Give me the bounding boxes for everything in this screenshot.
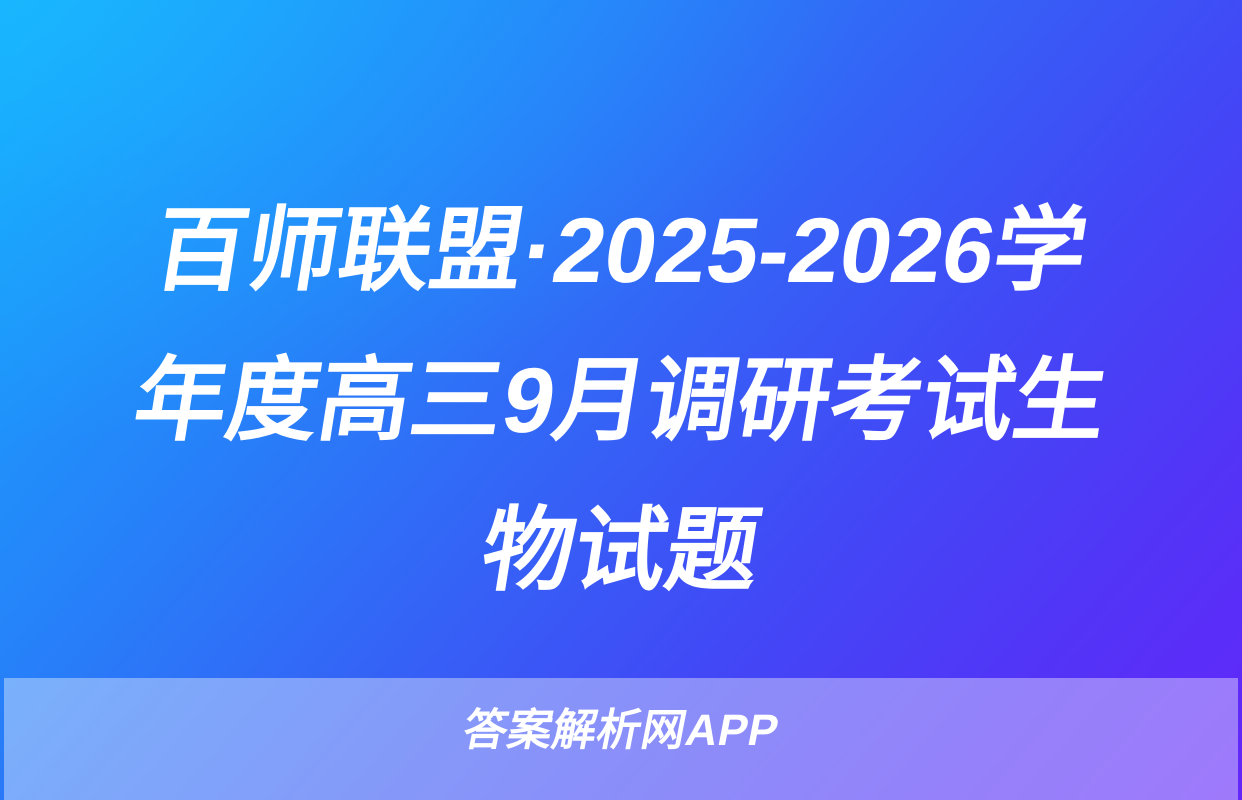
- title-line-3: 物试题: [60, 476, 1182, 626]
- poster-canvas: 百师联盟·2025-2026学 年度高三9月调研考试生 物试题 答案解析网APP: [0, 0, 1242, 800]
- title-line-1: 百师联盟·2025-2026学: [60, 176, 1182, 326]
- page-title: 百师联盟·2025-2026学 年度高三9月调研考试生 物试题: [0, 176, 1242, 626]
- app-watermark: 答案解析网APP: [0, 703, 1242, 759]
- title-line-2: 年度高三9月调研考试生: [60, 326, 1182, 476]
